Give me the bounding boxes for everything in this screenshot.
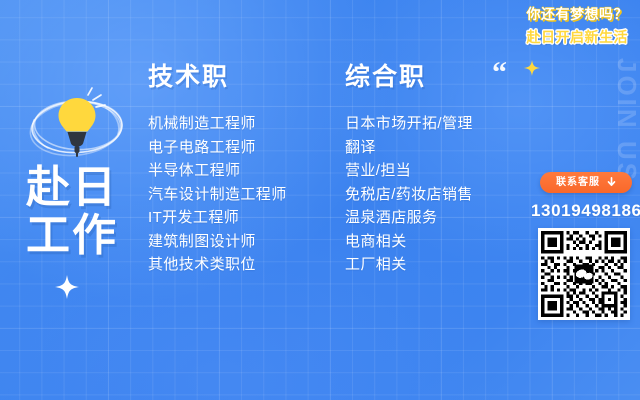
- poster-root: JOIN US 你还有梦想吗？ 赴日开启新生活 “: [0, 0, 640, 400]
- list-item[interactable]: 工厂相关: [345, 253, 473, 277]
- column-general: 综合职 日本市场开拓/管理 翻译 营业/担当 免税店/药妆店销售 温泉酒店服务 …: [345, 62, 473, 277]
- join-us-vertical-text: JOIN US: [611, 58, 640, 183]
- list-item[interactable]: 机械制造工程师: [148, 112, 287, 136]
- page-title-line-1: 赴日: [26, 164, 118, 212]
- page-title-line-2: 工作: [26, 212, 118, 260]
- list-item[interactable]: 营业/担当: [345, 159, 473, 183]
- slogan-line-1: 你还有梦想吗？: [527, 4, 629, 24]
- list-item[interactable]: 电商相关: [345, 230, 473, 254]
- qr-code-image: [538, 228, 630, 320]
- arrow-down-icon: [607, 177, 616, 188]
- list-item[interactable]: 建筑制图设计师: [148, 230, 287, 254]
- slogan-line-2: 赴日开启新生活: [527, 27, 629, 47]
- column-heading-general: 综合职: [345, 62, 473, 92]
- list-item[interactable]: 日本市场开拓/管理: [345, 112, 473, 136]
- job-list-technical: 机械制造工程师 电子电路工程师 半导体工程师 汽车设计制造工程师 IT开发工程师…: [148, 112, 287, 277]
- list-item[interactable]: 半导体工程师: [148, 159, 287, 183]
- sparkle-star-yellow-icon: [524, 60, 540, 76]
- job-list-general: 日本市场开拓/管理 翻译 营业/担当 免税店/药妆店销售 温泉酒店服务 电商相关…: [345, 112, 473, 277]
- page-title: 赴日 工作: [26, 164, 118, 260]
- column-heading-technical: 技术职: [148, 62, 287, 92]
- list-item[interactable]: 免税店/药妆店销售: [345, 183, 473, 207]
- list-item[interactable]: 温泉酒店服务: [345, 206, 473, 230]
- list-item[interactable]: 电子电路工程师: [148, 136, 287, 160]
- list-item[interactable]: 其他技术类职位: [148, 253, 287, 277]
- slogan-block: 你还有梦想吗？ 赴日开启新生活: [527, 4, 629, 47]
- list-item[interactable]: IT开发工程师: [148, 206, 287, 230]
- phone-number[interactable]: 13019498186: [531, 201, 640, 221]
- lightbulb-icon: [22, 84, 132, 166]
- column-technical: 技术职 机械制造工程师 电子电路工程师 半导体工程师 汽车设计制造工程师 IT开…: [148, 62, 287, 277]
- list-item[interactable]: 汽车设计制造工程师: [148, 183, 287, 207]
- contact-support-label: 联系客服: [556, 178, 600, 188]
- contact-support-button[interactable]: 联系客服: [540, 172, 632, 193]
- list-item[interactable]: 翻译: [345, 136, 473, 160]
- sparkle-star-white-icon: [55, 275, 79, 299]
- quotation-mark-icon: “: [492, 58, 507, 88]
- lightbulb-badge: [22, 84, 132, 166]
- qr-code[interactable]: [538, 228, 630, 320]
